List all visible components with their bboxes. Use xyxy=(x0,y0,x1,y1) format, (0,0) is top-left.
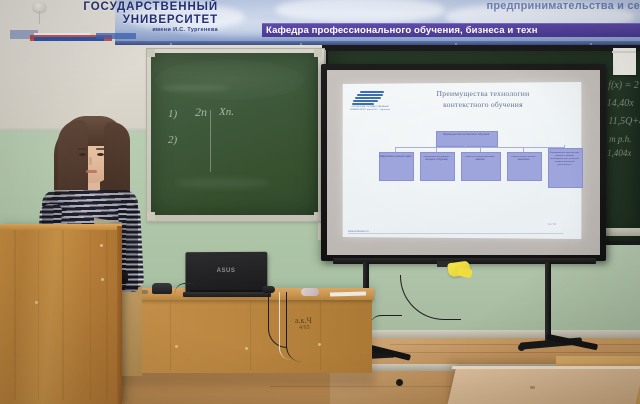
podium-wood-grain xyxy=(38,230,39,400)
foreground-table xyxy=(448,366,640,404)
mouth xyxy=(86,170,97,173)
classroom-photo: предпринимательства и се ГОСУДАРСТВЕННЫЙ… xyxy=(0,0,640,404)
caster-wheel xyxy=(396,379,403,386)
podium-screw xyxy=(35,301,38,304)
desk-cable-black-long xyxy=(286,292,307,362)
banner-department-text: Кафедра профессионального обучения, бизн… xyxy=(266,24,640,37)
diagram-box-label: Развитие коммуникативных навыков xyxy=(461,156,499,162)
banner-flag-blue-stripe xyxy=(34,37,104,41)
diagram-box-label: Эффективное решение задач xyxy=(379,156,412,159)
banner-university-title: ГОСУДАРСТВЕННЫЙ УНИВЕРСИТЕТ xyxy=(18,1,218,26)
slide-footer-rule xyxy=(348,233,563,234)
slide-title: Преимущества технологии контекстного обу… xyxy=(393,88,573,110)
podium-right-edge xyxy=(117,226,122,404)
diagram-box-label: Повышение мотивации и интереса к обучени… xyxy=(420,156,453,162)
presenter-person xyxy=(22,58,130,233)
eye-left xyxy=(79,153,86,156)
eyebrow-left xyxy=(78,148,87,150)
slide-page-number: 14 / 18 xyxy=(548,223,556,226)
podium-wood-grain xyxy=(14,230,16,400)
desk-front-panel xyxy=(114,299,372,373)
banner-screw xyxy=(170,43,172,45)
slide-title-line2: контекстного обучения xyxy=(393,99,573,110)
desk-panel-seam xyxy=(170,302,171,370)
chalk-smudge xyxy=(175,178,270,188)
banner-university-subtitle: имени И.С. Тургенева xyxy=(18,27,218,33)
banner-title-line1: ГОСУДАРСТВЕННЫЙ xyxy=(18,1,218,14)
diagram-box-label: Развитие критического мышления xyxy=(507,156,540,162)
desk-object-black-device[interactable] xyxy=(152,283,172,294)
pinned-paper-edge xyxy=(612,51,636,53)
banner-screw xyxy=(300,43,302,45)
desk-panel-seam xyxy=(250,302,251,370)
chalk-divider-line xyxy=(210,110,211,172)
eyebrow-right xyxy=(96,148,105,150)
nose xyxy=(89,157,92,165)
slide-title-line1: Преимущества технологии xyxy=(393,88,573,99)
podium-wood-grain xyxy=(90,230,91,400)
caster-wheel xyxy=(518,344,525,351)
podium-top-edge xyxy=(0,224,122,230)
podium-screw xyxy=(100,244,103,247)
laptop-base xyxy=(183,292,271,297)
chalkboard-corner-bracket xyxy=(147,49,155,57)
chalk-smudge xyxy=(160,85,230,91)
chalkboard-corner-bracket xyxy=(147,212,155,220)
baseboard-right xyxy=(372,330,640,338)
chalkboard-glare xyxy=(155,60,305,100)
foreground-table-edge xyxy=(452,366,640,369)
desk-cable xyxy=(175,283,193,294)
banner-title-line2: УНИВЕРСИТЕТ xyxy=(18,14,218,27)
podium-screw xyxy=(101,278,104,281)
desk-object-small[interactable] xyxy=(141,290,148,294)
eye-right xyxy=(97,153,104,156)
chalkboard-corner-bracket xyxy=(314,49,322,57)
banner-secondary-line: предпринимательства и се xyxy=(248,0,640,12)
desk-screw xyxy=(318,343,321,346)
desk-panel-seam xyxy=(320,302,321,370)
desk-screw xyxy=(175,345,178,348)
foreground-table-mark xyxy=(530,386,535,389)
laptop-brand-logo: ASUS xyxy=(215,268,237,275)
podium xyxy=(0,227,122,404)
podium-wood-grain xyxy=(62,230,64,400)
diagram-box-label: Формирование практических навыков и умен… xyxy=(548,152,581,167)
diagram-root-label: Преимущества контекстного обучения xyxy=(436,133,496,137)
banner-flag-blue-accent xyxy=(96,33,136,39)
desk-screw xyxy=(245,347,248,350)
podium-wood-grain xyxy=(106,230,108,400)
slide-logo-caption: ОРЛОВСКИЙ ГОСУДАРСТВЕННЫЙ УНИВЕРСИТЕТ им… xyxy=(348,106,392,112)
